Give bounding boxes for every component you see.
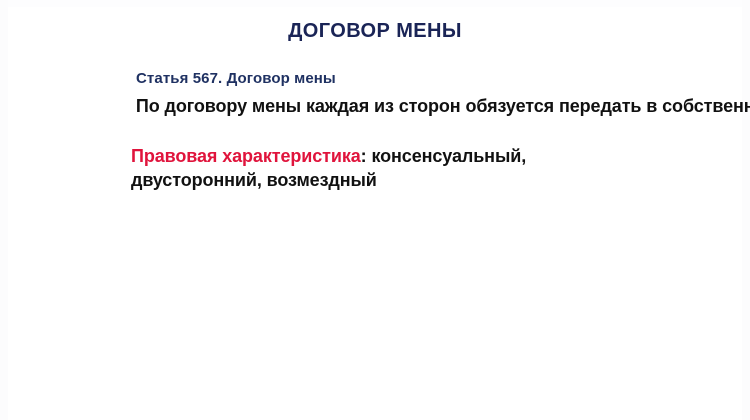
slide-title: ДОГОВОР МЕНЫ (0, 18, 750, 44)
slide-canvas: ДОГОВОР МЕНЫ Статья 567. Договор мены По… (0, 0, 750, 420)
slide-right-edge (742, 0, 750, 420)
legal-characteristic-paragraph: Правовая характеристика: консенсуальный,… (131, 144, 601, 192)
slide-content: Статья 567. Договор мены По договору мен… (131, 68, 601, 192)
slide-top-edge (0, 0, 750, 7)
article-heading: Статья 567. Договор мены (136, 68, 601, 90)
paragraph-spacer (131, 118, 601, 144)
slide-left-edge (0, 0, 8, 420)
legal-characteristic-label: Правовая характеристика (131, 146, 361, 166)
article-body-text: По договору мены каждая из сторон обязуе… (131, 94, 601, 118)
